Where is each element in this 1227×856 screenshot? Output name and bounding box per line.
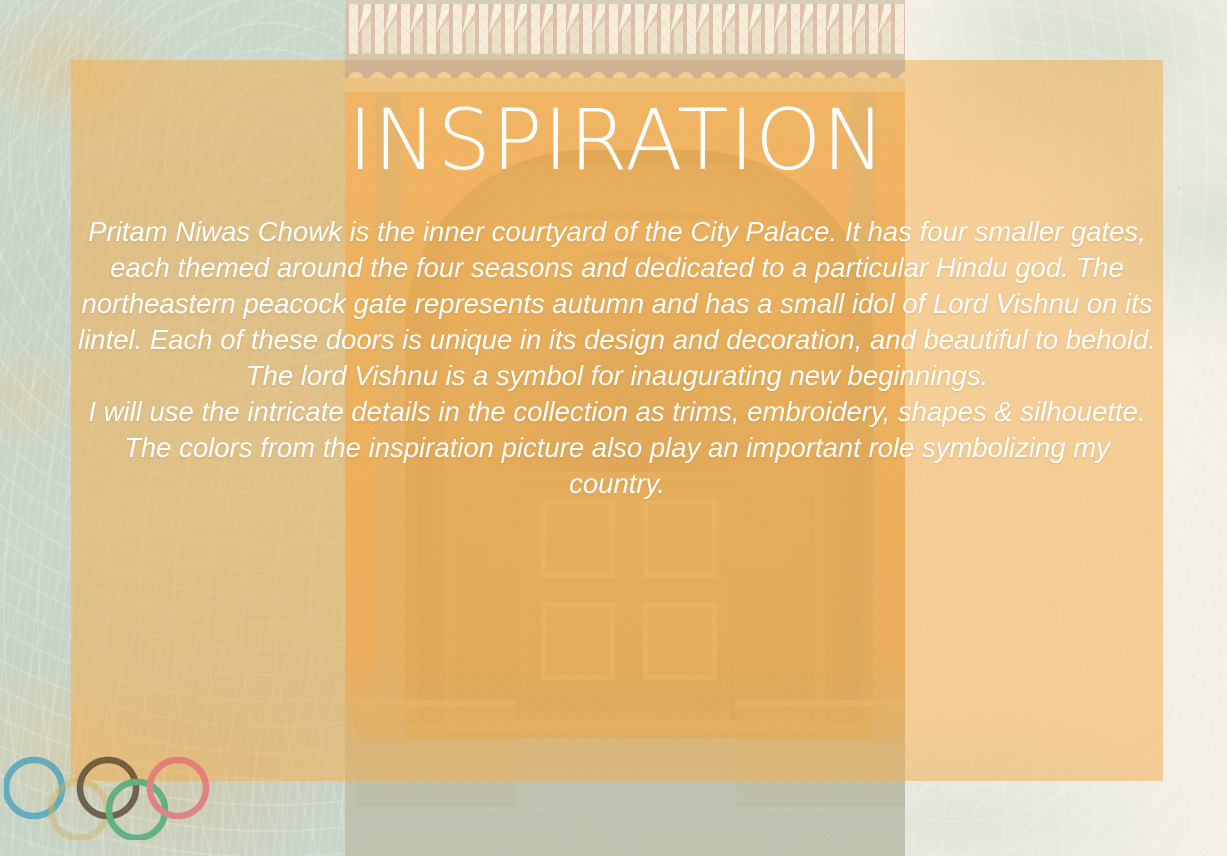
slide-canvas: INSPIRATION Pritam Niwas Chowk is the in… [0, 0, 1227, 856]
body-text-block: Pritam Niwas Chowk is the inner courtyar… [71, 184, 1163, 502]
content-region: INSPIRATION Pritam Niwas Chowk is the in… [71, 60, 1163, 781]
page-title: INSPIRATION [71, 60, 1163, 184]
body-paragraph-2: I will use the intricate details in the … [77, 394, 1157, 430]
olympic-rings-logo [4, 748, 226, 840]
body-paragraph-1: Pritam Niwas Chowk is the inner courtyar… [77, 214, 1157, 394]
body-paragraph-3: The colors from the inspiration picture … [77, 430, 1157, 502]
